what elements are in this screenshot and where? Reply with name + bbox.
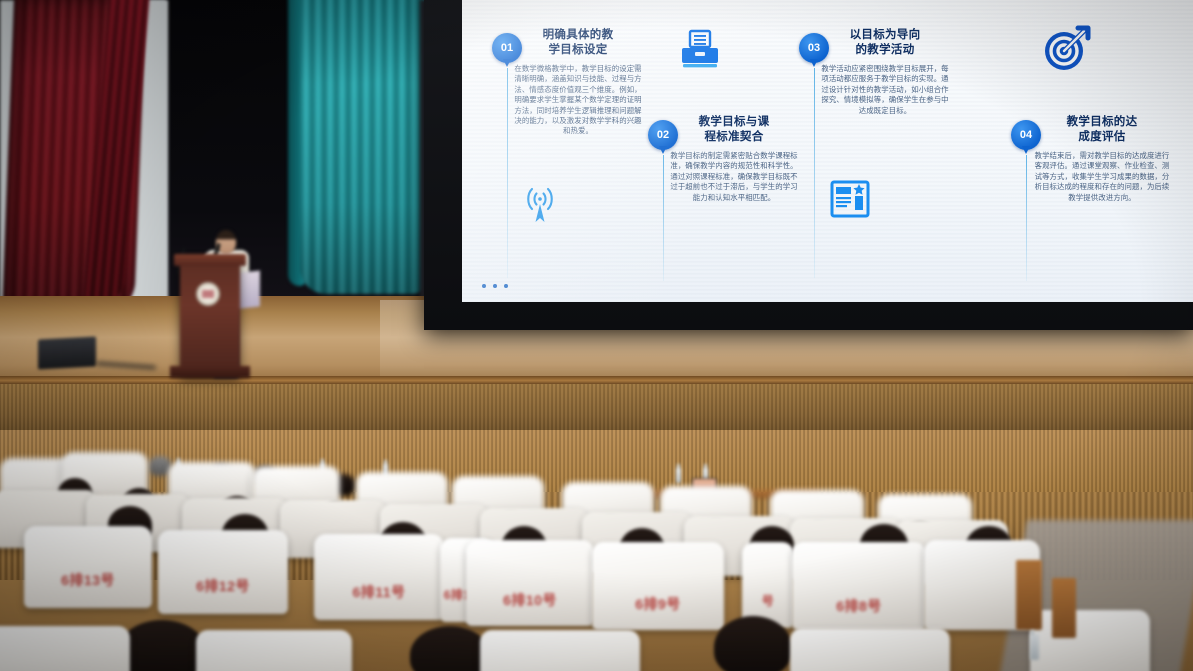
seat bbox=[0, 626, 130, 671]
podium-base bbox=[170, 366, 250, 378]
water-bottle bbox=[676, 468, 681, 483]
block-body-02: 教学目标的制定需紧密贴合数学课程标准，确保教学内容的规范性和科学性。通过对照课程… bbox=[668, 151, 800, 203]
block-body-03: 教学活动应紧密围绕教学目标展开，每项活动都应服务于教学目标的实现。通过设计针对性… bbox=[819, 64, 951, 116]
seat bbox=[196, 630, 352, 671]
seat: 6排10号 bbox=[466, 540, 594, 626]
block-title-03: 以目标为导向 的教学活动 bbox=[821, 28, 949, 58]
printer-document-icon bbox=[678, 28, 722, 72]
podium bbox=[180, 258, 240, 376]
block-connector-02 bbox=[663, 155, 664, 281]
seat: 6排11号 bbox=[314, 534, 444, 620]
broadcast-antenna-icon bbox=[519, 182, 561, 226]
aisle-chair-back bbox=[1052, 578, 1076, 638]
block-title-line1-04: 教学目标的达 bbox=[1067, 116, 1138, 128]
audience-head bbox=[410, 626, 490, 671]
seat-number-label: 6排12号 bbox=[158, 576, 288, 596]
seat-number-label: 6排8号 bbox=[792, 596, 926, 616]
block-title-04: 教学目标的达 成度评估 bbox=[1033, 115, 1171, 145]
presenter-head bbox=[216, 230, 236, 254]
water-bottle bbox=[1030, 634, 1039, 660]
block-body-04: 教学结束后，需对教学目标的达成度进行客观评估。通过课堂观察、作业检查、测试等方式… bbox=[1031, 151, 1173, 203]
seat-number-label: 6排9号 bbox=[592, 594, 724, 614]
auditorium-photo: …教学目标… 01 明确具体的教 学目标设定 在数学微格教学中，教学目标的设定需… bbox=[0, 0, 1193, 671]
block-connector-03 bbox=[814, 68, 815, 278]
seat: 6排12号 bbox=[158, 530, 288, 614]
podium-emblem bbox=[196, 282, 220, 306]
block-title-line2-04: 成度评估 bbox=[1078, 131, 1125, 143]
pager-dot-2[interactable] bbox=[493, 284, 497, 288]
seat bbox=[1030, 610, 1150, 671]
target-arrow-icon bbox=[1040, 24, 1092, 74]
pager-dot-3[interactable] bbox=[504, 284, 508, 288]
aisle-chair-back bbox=[1016, 560, 1042, 630]
block-body-01: 在数学微格教学中，教学目标的设定需清晰明确，涵盖知识与技能、过程与方法、情感态度… bbox=[512, 64, 644, 137]
seat: 6排9号 bbox=[592, 542, 724, 630]
seat-number-label: 6排11号 bbox=[314, 582, 444, 602]
stage-curtain-teal bbox=[300, 0, 432, 294]
block-title-line2-03: 的教学活动 bbox=[856, 44, 915, 56]
block-connector-01 bbox=[507, 68, 508, 278]
seat-number-label: 号 bbox=[742, 592, 794, 609]
seat bbox=[790, 628, 950, 671]
audience-head bbox=[714, 616, 792, 671]
block-title-02: 教学目标与课 程标准契合 bbox=[670, 115, 798, 145]
audience-area: 6排13号 6排12号 6排11号 6排10号 6排10号 6排9号 号 6排8… bbox=[0, 430, 1193, 671]
projection-screen[interactable]: …教学目标… 01 明确具体的教 学目标设定 在数学微格教学中，教学目标的设定需… bbox=[462, 0, 1193, 302]
seat bbox=[480, 630, 640, 671]
article-star-icon bbox=[828, 178, 872, 222]
stage-floor-monitor bbox=[38, 336, 96, 369]
seat: 6排13号 bbox=[24, 526, 152, 608]
block-title-01: 明确具体的教 学目标设定 bbox=[514, 28, 642, 58]
block-connector-04 bbox=[1026, 155, 1027, 281]
pager-dot-1[interactable] bbox=[482, 284, 486, 288]
stage-front-panel bbox=[0, 384, 1193, 436]
block-title-line1-03: 以目标为导向 bbox=[850, 29, 921, 41]
block-title-line2-02: 程标准契合 bbox=[705, 131, 764, 143]
seat-number-label: 6排13号 bbox=[24, 570, 152, 590]
block-title-line1-01: 明确具体的教 bbox=[543, 29, 614, 41]
audience-head bbox=[118, 620, 206, 671]
seat: 6排8号 bbox=[792, 542, 926, 630]
block-title-line1-02: 教学目标与课 bbox=[699, 116, 770, 128]
seat-number-label: 6排10号 bbox=[466, 590, 594, 610]
podium-top bbox=[174, 254, 246, 266]
block-title-line2-01: 学目标设定 bbox=[549, 44, 608, 56]
slide-pager-dots[interactable] bbox=[482, 284, 508, 288]
